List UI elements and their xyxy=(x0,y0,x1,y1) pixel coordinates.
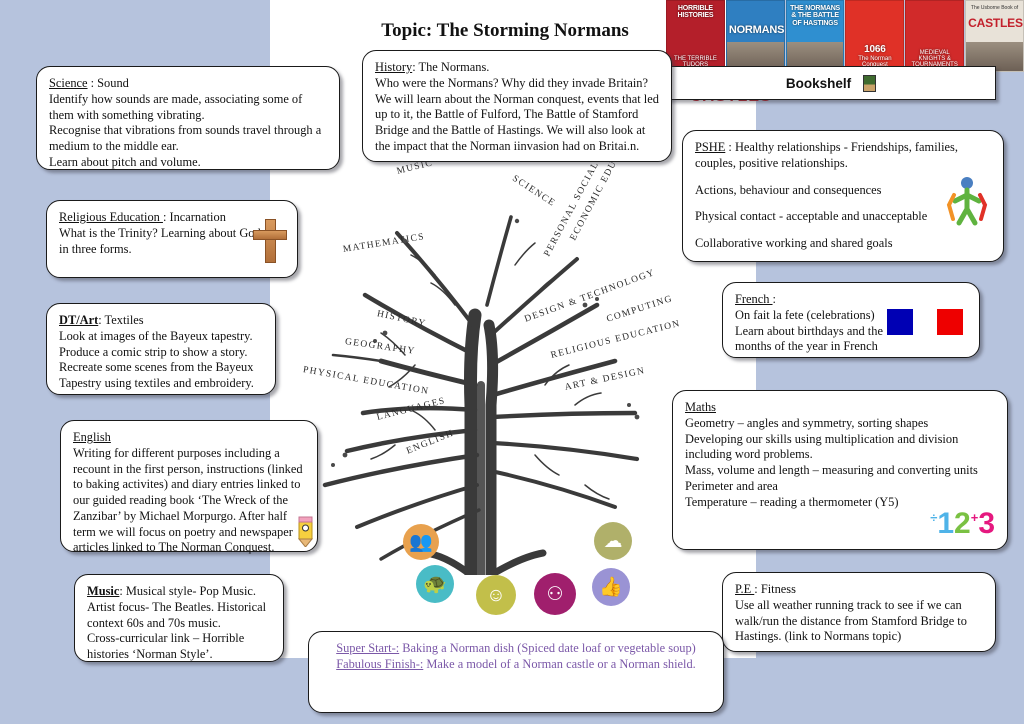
subject-heading: Music xyxy=(87,584,119,598)
subject-line: Writing for different purposes including… xyxy=(73,446,305,556)
subject-line: Who were the Normans? Why did they invad… xyxy=(375,76,659,155)
subject-box-maths[interactable]: Maths Geometry – angles and symmetry, so… xyxy=(672,390,1008,550)
subject-heading-suffix: : Fitness xyxy=(754,582,796,596)
super-start-label: Super Start-: xyxy=(336,641,399,655)
subject-line: Mass, volume and length – measuring and … xyxy=(685,463,995,479)
value-circle-thankfulness: ☺ xyxy=(476,575,516,615)
page-title: Topic: The Storming Normans xyxy=(340,20,670,42)
smiley-glyph: ☺ xyxy=(486,586,505,605)
subject-heading: Maths xyxy=(685,400,716,414)
pencil-icon xyxy=(291,507,321,547)
subject-heading-suffix: : Musical style- Pop Music. xyxy=(119,584,256,598)
book-title: THE NORMANS & THE BATTLE OF HASTINGS xyxy=(787,5,844,27)
chain-glyph: ⚇ xyxy=(546,585,563,604)
tortoise-glyph: 🐢 xyxy=(423,575,447,594)
subject-heading-suffix: : Sound xyxy=(88,76,129,90)
subject-line: On fait la fete (celebrations) xyxy=(735,308,903,324)
subject-line: Learn about birthdays and the months of … xyxy=(735,324,903,356)
subject-line: Developing our skills using multiplicati… xyxy=(685,432,995,464)
book-title: 1066 xyxy=(846,45,903,56)
subject-box-history[interactable]: History: The Normans. Who were the Norma… xyxy=(362,50,672,162)
value-circle-trust: ⚇ xyxy=(534,573,576,615)
bookshelf-covers: HORRIBLE HISTORIES THE TERRIBLE TUDORS N… xyxy=(666,0,1024,72)
bookshelf-label[interactable]: Bookshelf xyxy=(666,66,996,100)
curriculum-tree-illustration: MUSIC SCIENCE MATHEMATICS PERSONAL SOCIA… xyxy=(285,155,685,575)
subject-heading: Science xyxy=(49,76,88,90)
subject-box-pshe[interactable]: PSHE : Healthy relationships - Friendshi… xyxy=(682,130,1004,262)
subject-box-pe[interactable]: P.E : Fitness Use all weather running tr… xyxy=(722,572,996,652)
value-circle-perseverance: 🐢 xyxy=(416,565,454,603)
subject-box-french[interactable]: French : On fait la fete (celebrations) … xyxy=(722,282,980,358)
topic-web-page: Topic: The Storming Normans HORRIBLE HIS… xyxy=(0,0,1024,724)
subject-heading: Religious Education xyxy=(59,210,163,224)
subject-line: Cross-curricular link – Horrible histori… xyxy=(87,631,271,663)
subject-box-religious-education[interactable]: Religious Education : Incarnation What i… xyxy=(46,200,298,278)
people-icon xyxy=(945,175,989,227)
subject-line: Learn about pitch and volume. xyxy=(49,155,327,171)
subject-box-science[interactable]: Science : Sound Identify how sounds are … xyxy=(36,66,340,170)
thumbs-up-glyph: 👍 xyxy=(599,578,623,597)
subject-line: Recognise that vibrations from sounds tr… xyxy=(49,123,327,155)
subject-heading-suffix: : Healthy relationships - Friendships, f… xyxy=(695,140,958,170)
book-title: NORMANS xyxy=(727,25,784,37)
subject-line: Collaborative working and shared goals xyxy=(695,236,991,252)
book-cover[interactable]: NORMANS xyxy=(726,0,785,72)
subject-heading: PSHE xyxy=(695,140,725,154)
bookshelf-label-text: Bookshelf xyxy=(786,76,851,91)
subject-box-dt-art[interactable]: DT/Art: Textiles Look at images of the B… xyxy=(46,303,276,395)
start-finish-box[interactable]: Super Start-: Baking a Norman dish (Spic… xyxy=(308,631,724,713)
book-icon xyxy=(863,75,876,92)
value-circle-hope: ☁ xyxy=(594,522,632,560)
fabulous-finish-label: Fabulous Finish-: xyxy=(336,657,423,671)
subject-box-music[interactable]: Music: Musical style- Pop Music. Artist … xyxy=(74,574,284,662)
fabulous-finish-text: Make a model of a Norman castle or a Nor… xyxy=(423,657,696,671)
french-flag-red xyxy=(937,309,963,335)
subject-heading: French xyxy=(735,292,773,306)
book-cover[interactable]: MEDIEVAL KNIGHTS & TOURNAMENTS xyxy=(905,0,964,72)
subject-line: Identify how sounds are made, associatin… xyxy=(49,92,327,124)
people-glyph: 👥 xyxy=(409,533,433,552)
cloud-glyph: ☁ xyxy=(604,532,623,551)
cross-icon xyxy=(253,219,287,263)
book-subtitle: The Usborne Book of xyxy=(966,5,1023,11)
subject-heading-suffix: : Textiles xyxy=(98,313,143,327)
book-title: CASTLES xyxy=(966,17,1023,30)
subject-line: Geometry – angles and symmetry, sorting … xyxy=(685,416,995,432)
subject-line: What is the Trinity? Learning about God … xyxy=(59,226,264,258)
book-title: HORRIBLE HISTORIES xyxy=(667,5,724,20)
value-circle-friendship: 👥 xyxy=(403,524,439,560)
subject-heading: English xyxy=(73,430,111,444)
subject-line: Use all weather running track to see if … xyxy=(735,598,983,645)
french-flag-blue xyxy=(887,309,913,335)
subject-heading: P.E xyxy=(735,582,754,596)
subject-line: Recreate some scenes from the Bayeux Tap… xyxy=(59,360,263,392)
subject-heading: DT/Art xyxy=(59,313,98,327)
book-cover[interactable]: HORRIBLE HISTORIES THE TERRIBLE TUDORS xyxy=(666,0,725,72)
value-circle-honesty: 👍 xyxy=(592,568,630,606)
book-cover[interactable]: 1066 The Norman Conquest xyxy=(845,0,904,72)
subject-line: Look at images of the Bayeux tapestry. xyxy=(59,329,263,345)
super-start-text: Baking a Norman dish (Spiced date loaf o… xyxy=(399,641,696,655)
tree-svg xyxy=(285,155,685,575)
book-cover[interactable]: THE NORMANS & THE BATTLE OF HASTINGS xyxy=(786,0,845,72)
subject-heading-suffix: : The Normans. xyxy=(412,60,489,74)
subject-box-english[interactable]: English Writing for different purposes i… xyxy=(60,420,318,552)
numbers-123-icon: ÷12+3 xyxy=(930,505,995,543)
subject-line: Perimeter and area xyxy=(685,479,995,495)
subject-heading-suffix: : Incarnation xyxy=(163,210,226,224)
book-cover[interactable]: CASTLES The Usborne Book of xyxy=(965,0,1024,72)
subject-heading-suffix: : xyxy=(773,292,776,306)
subject-line: Artist focus- The Beatles. Historical co… xyxy=(87,600,271,632)
subject-heading: History xyxy=(375,60,412,74)
subject-line: Produce a comic strip to show a story. xyxy=(59,345,263,361)
